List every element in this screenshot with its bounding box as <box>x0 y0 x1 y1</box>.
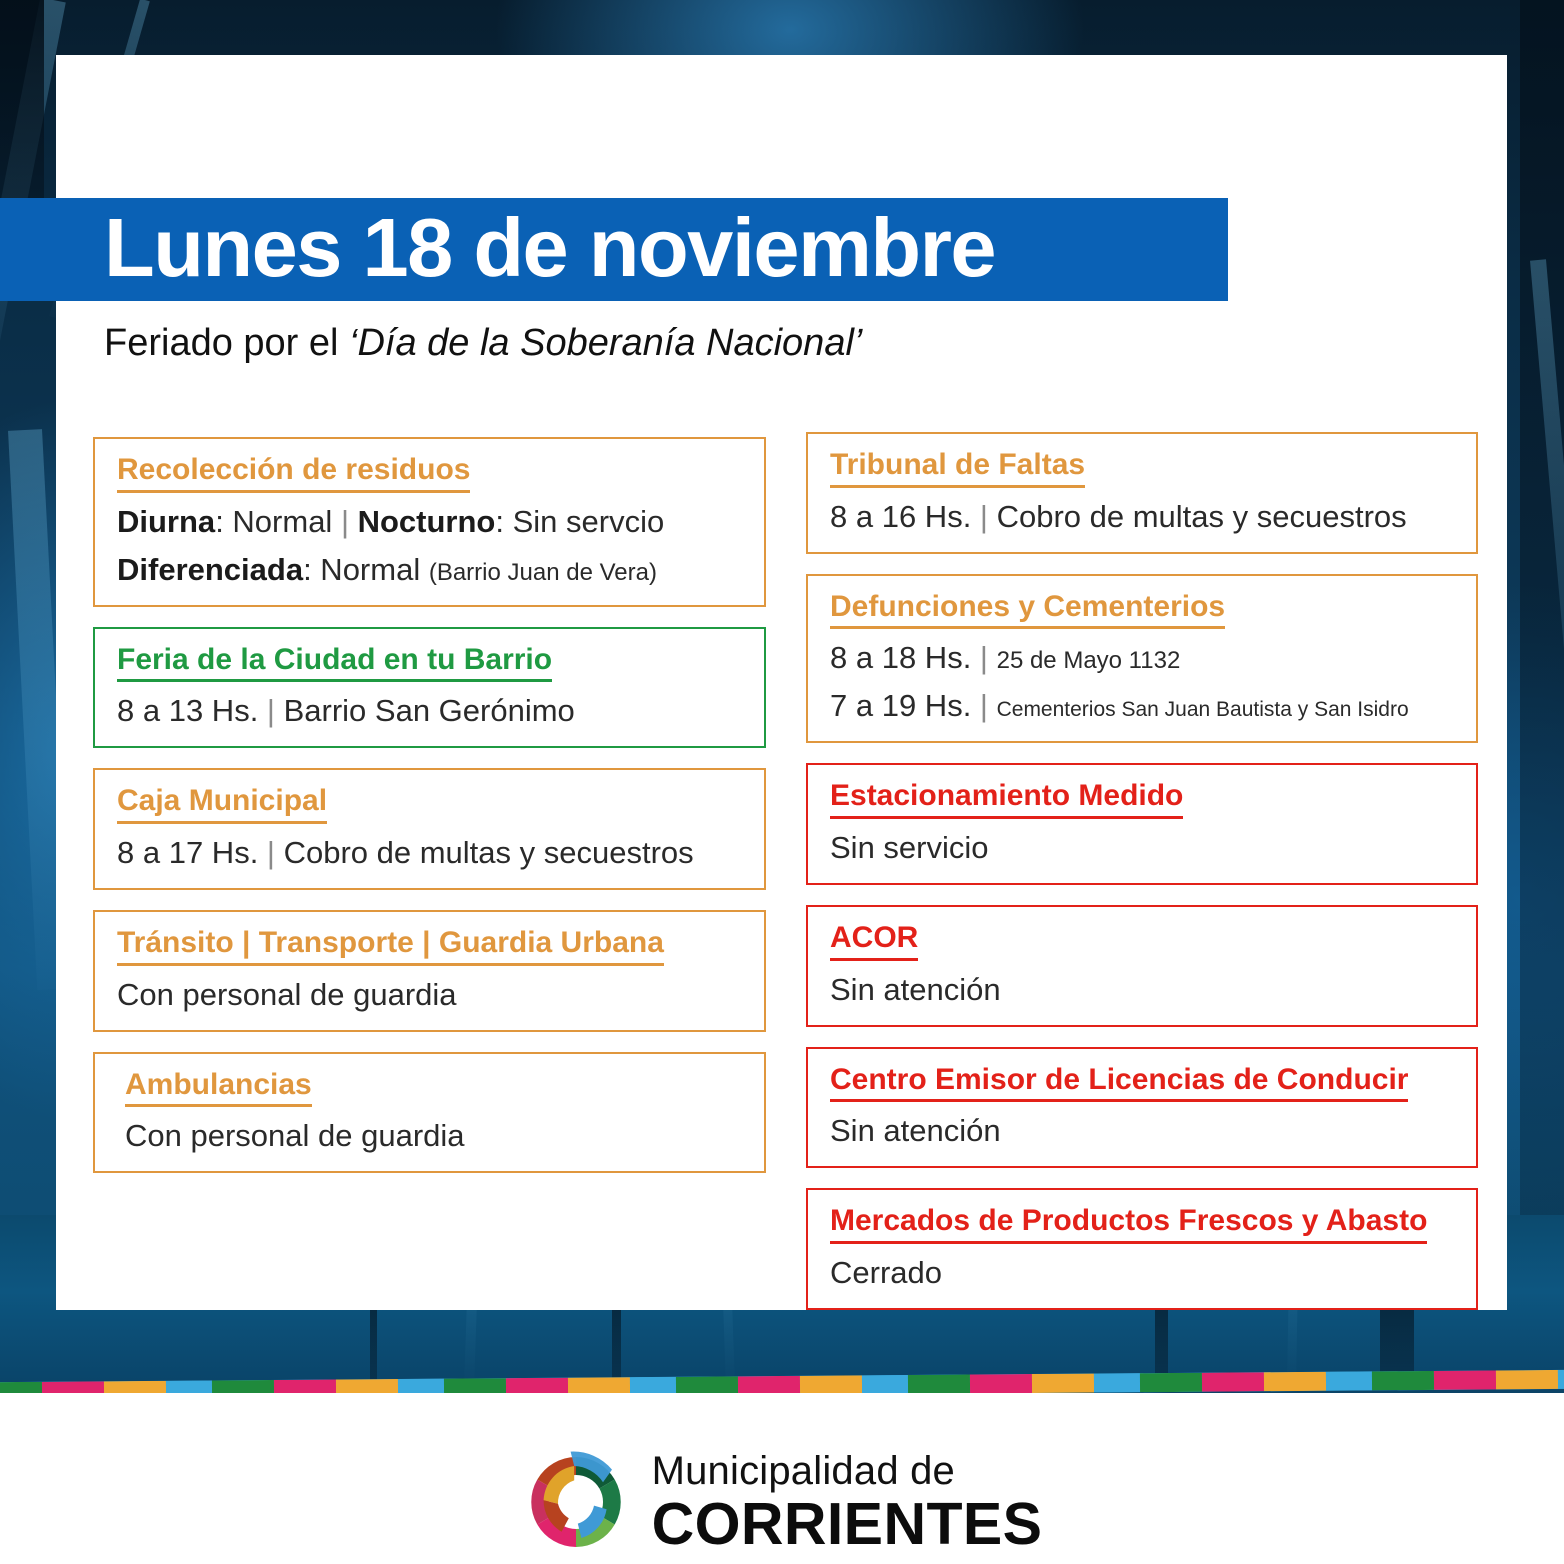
service-detail-text: 8 a 18 Hs. <box>830 640 980 675</box>
service-detail-line: 8 a 17 Hs. | Cobro de multas y secuestro… <box>117 833 742 872</box>
service-card-acor: ACORSin atención <box>806 905 1478 1027</box>
ribbon-segment <box>862 1375 908 1394</box>
service-card-transito-transporte-guardia-urbana: Tránsito | Transporte | Guardia UrbanaCo… <box>93 910 766 1032</box>
service-detail-text: 8 a 13 Hs. <box>117 693 267 728</box>
service-title: Recolección de residuos <box>117 453 470 493</box>
services-column-right: Tribunal de Faltas8 a 16 Hs. | Cobro de … <box>806 432 1478 1330</box>
page-title: Lunes 18 de noviembre <box>104 200 995 296</box>
service-detail-text: 25 de Mayo 1132 <box>997 647 1181 674</box>
service-title: Mercados de Productos Frescos y Abasto <box>830 1204 1427 1244</box>
service-detail-line: Cerrado <box>830 1253 1454 1292</box>
service-detail-text: | <box>980 640 997 675</box>
ribbon-segment <box>1094 1373 1140 1392</box>
service-detail-line: Diurna: Normal | Nocturno: Sin servcio <box>117 502 742 541</box>
service-detail-text: Diurna <box>117 504 215 539</box>
service-detail-text: | <box>267 693 284 728</box>
service-title: Tránsito | Transporte | Guardia Urbana <box>117 926 664 966</box>
service-card-defunciones-y-cementerios: Defunciones y Cementerios8 a 18 Hs. | 25… <box>806 574 1478 744</box>
ribbon-segment <box>1140 1373 1202 1392</box>
service-title: Centro Emisor de Licencias de Conducir <box>830 1063 1408 1103</box>
service-detail-text: : Sin servcio <box>495 504 664 539</box>
ribbon-segment <box>1032 1374 1094 1393</box>
page-subtitle: Feriado por el ‘Día de la Soberanía Naci… <box>104 322 862 365</box>
service-detail-line: 8 a 18 Hs. | 25 de Mayo 1132 <box>830 638 1454 677</box>
ribbon-segment <box>800 1375 862 1394</box>
service-title: Feria de la Ciudad en tu Barrio <box>117 643 552 683</box>
logo-line-municipalidad: Municipalidad de <box>652 1451 1043 1491</box>
ribbon-segment <box>908 1375 970 1394</box>
service-detail-text: Cementerios San Juan Bautista y San Isid… <box>997 698 1409 721</box>
service-detail-line: Sin atención <box>830 970 1454 1009</box>
ribbon-segment <box>1372 1371 1434 1390</box>
logo-wordmark: Municipalidad de CORRIENTES <box>652 1451 1043 1554</box>
service-detail-line: 8 a 13 Hs. | Barrio San Gerónimo <box>117 691 742 730</box>
service-detail-text: : Normal <box>303 552 429 587</box>
ribbon-segment <box>1326 1371 1372 1390</box>
service-detail-text: Barrio San Gerónimo <box>284 693 575 728</box>
service-detail-text: Cobro de multas y secuestros <box>997 499 1407 534</box>
service-detail-text: : Normal <box>215 504 341 539</box>
service-title: Ambulancias <box>125 1068 312 1108</box>
service-detail-text: Nocturno <box>358 504 496 539</box>
service-detail-line: Sin servicio <box>830 828 1454 867</box>
service-title: Caja Municipal <box>117 784 327 824</box>
service-card-recoleccion-de-residuos: Recolección de residuosDiurna: Normal | … <box>93 437 766 607</box>
service-detail-text: Cobro de multas y secuestros <box>284 835 694 870</box>
service-detail-line: 8 a 16 Hs. | Cobro de multas y secuestro… <box>830 497 1454 536</box>
title-band: Lunes 18 de noviembre <box>0 198 1228 301</box>
service-detail-text: Sin atención <box>830 972 1001 1007</box>
service-detail-line: Con personal de guardia <box>117 975 742 1014</box>
service-detail-text: Sin servicio <box>830 830 989 865</box>
service-detail-text: 7 a 19 Hs. <box>830 688 980 723</box>
logo-line-corrientes: CORRIENTES <box>652 1495 1043 1554</box>
service-detail-text: Sin atención <box>830 1113 1001 1148</box>
ribbon-segment <box>1264 1372 1326 1391</box>
service-detail-line: Diferenciada: Normal (Barrio Juan de Ver… <box>117 550 742 589</box>
subtitle-emphasis: ‘Día de la Soberanía Nacional’ <box>349 322 862 364</box>
service-title: ACOR <box>830 921 918 961</box>
ribbon-segment <box>970 1374 1032 1393</box>
services-column-left: Recolección de residuosDiurna: Normal | … <box>93 437 766 1193</box>
footer: Municipalidad de CORRIENTES <box>0 1440 1564 1564</box>
subtitle-prefix: Feriado por el <box>104 322 349 364</box>
service-card-ambulancias: AmbulanciasCon personal de guardia <box>93 1052 766 1174</box>
service-card-estacionamiento-medido: Estacionamiento MedidoSin servicio <box>806 763 1478 885</box>
service-detail-text: 8 a 16 Hs. <box>830 499 980 534</box>
service-detail-text: 8 a 17 Hs. <box>117 835 267 870</box>
corrientes-logo-icon <box>522 1448 630 1556</box>
service-detail-line: Sin atención <box>830 1111 1454 1150</box>
service-detail-line: Con personal de guardia <box>117 1116 742 1155</box>
service-title: Defunciones y Cementerios <box>830 590 1225 630</box>
service-detail-text: | <box>980 499 997 534</box>
ribbon-segment <box>1496 1370 1558 1389</box>
ribbon-segment <box>1558 1370 1564 1389</box>
service-card-caja-municipal: Caja Municipal8 a 17 Hs. | Cobro de mult… <box>93 768 766 890</box>
service-title: Estacionamiento Medido <box>830 779 1183 819</box>
service-detail-text: Diferenciada <box>117 552 303 587</box>
service-card-centro-emisor-de-licencias-de-conducir: Centro Emisor de Licencias de ConducirSi… <box>806 1047 1478 1169</box>
service-detail-text: | <box>267 835 284 870</box>
service-detail-text: Cerrado <box>830 1255 942 1290</box>
ribbon-segment <box>1202 1372 1264 1391</box>
ribbon-segment <box>1434 1370 1496 1389</box>
poster-root: Lunes 18 de noviembre Feriado por el ‘Dí… <box>0 0 1564 1564</box>
service-detail-text: | <box>341 504 358 539</box>
service-card-feria-de-la-ciudad-en-tu-barrio: Feria de la Ciudad en tu Barrio8 a 13 Hs… <box>93 627 766 749</box>
service-detail-text: | <box>980 688 997 723</box>
service-detail-text: (Barrio Juan de Vera) <box>429 559 657 586</box>
service-detail-text: Con personal de guardia <box>117 977 457 1012</box>
service-detail-text: Con personal de guardia <box>125 1118 465 1153</box>
service-card-tribunal-de-faltas: Tribunal de Faltas8 a 16 Hs. | Cobro de … <box>806 432 1478 554</box>
service-card-mercados-de-productos-frescos-y-abasto: Mercados de Productos Frescos y Abasto C… <box>806 1188 1478 1310</box>
service-title: Tribunal de Faltas <box>830 448 1085 488</box>
service-detail-line: 7 a 19 Hs. | Cementerios San Juan Bautis… <box>830 686 1454 725</box>
